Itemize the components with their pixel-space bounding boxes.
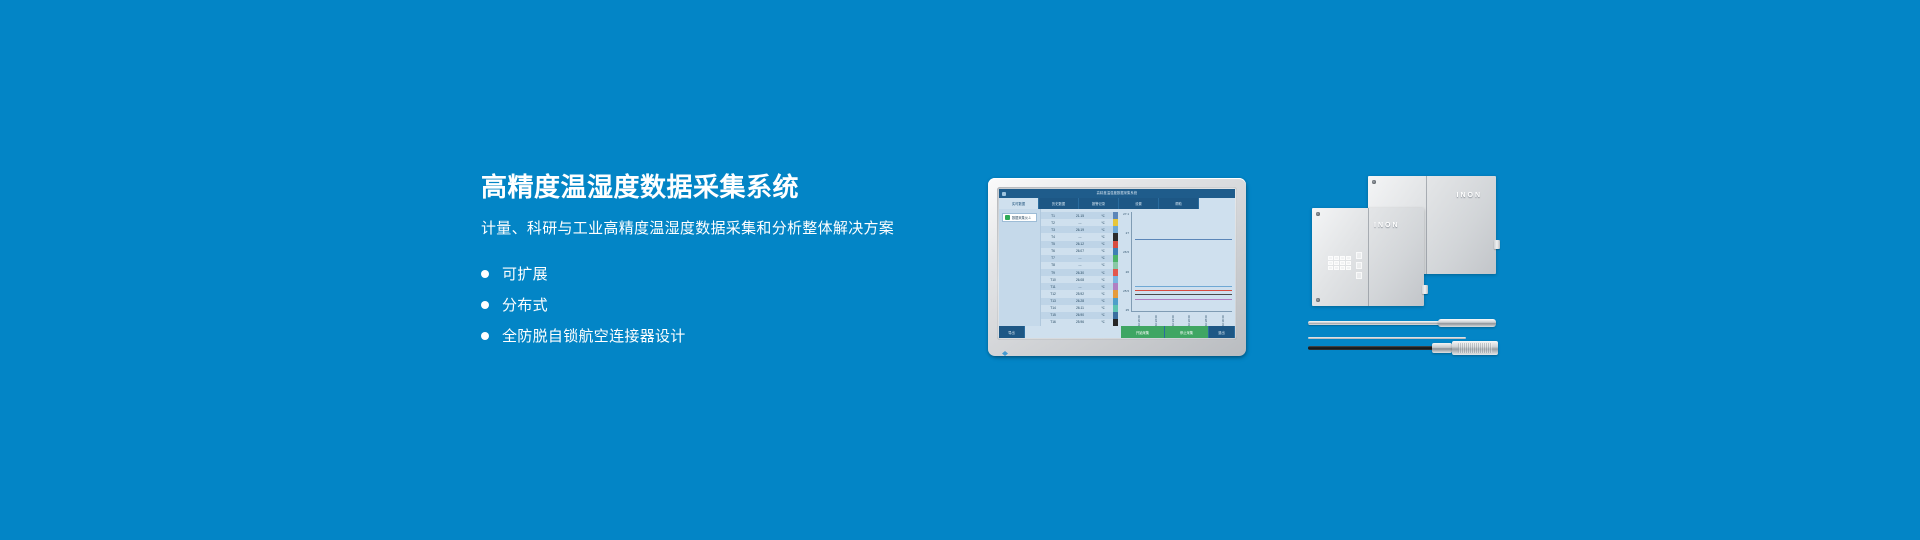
list-item: 可扩展 bbox=[481, 258, 951, 289]
table-cell: 21.15 bbox=[1064, 214, 1096, 218]
table-cell: T13 bbox=[1042, 299, 1064, 303]
monitor-bezel: 高精度温湿度数据采集系统 实时数据 历史数据 报警记录 设置 帮助 bbox=[988, 178, 1246, 356]
enclosure-connector bbox=[1422, 285, 1428, 294]
table-cell: ℃ bbox=[1096, 235, 1110, 239]
trend-chart: 27.12726.52625.525 10:20:0010:22:0010:24… bbox=[1118, 209, 1235, 326]
app-tab-bar[interactable]: 实时数据 历史数据 报警记录 设置 帮助 bbox=[999, 198, 1235, 209]
sidebar-item-label: 数据采集仪-1 bbox=[1012, 215, 1031, 220]
table-cell: ℃ bbox=[1096, 313, 1110, 317]
screw-icon bbox=[1316, 298, 1320, 302]
chart-series-line bbox=[1135, 294, 1232, 295]
table-cell: T15 bbox=[1042, 313, 1064, 317]
steel-probe-rod bbox=[1308, 321, 1446, 325]
list-item: 分布式 bbox=[481, 289, 951, 320]
table-cell: --- bbox=[1064, 235, 1096, 239]
table-cell: 26.11 bbox=[1064, 306, 1096, 310]
chart-series-line bbox=[1135, 286, 1232, 287]
enclosure-front: INON bbox=[1312, 208, 1424, 306]
table-cell: T11 bbox=[1042, 285, 1064, 289]
chart-series-line bbox=[1135, 299, 1232, 300]
hero-banner: 高精度温湿度数据采集系统 计量、科研与工业高精度温湿度数据采集和分析整体解决方案… bbox=[0, 0, 1920, 540]
table-row[interactable]: T2---℃ bbox=[1041, 219, 1113, 226]
sidebar-item-device[interactable]: 数据采集仪-1 bbox=[1002, 213, 1037, 222]
table-cell: ℃ bbox=[1096, 320, 1110, 324]
channel-table[interactable]: T121.15℃T2---℃T326.19℃T4---℃T526.12℃T626… bbox=[1041, 209, 1113, 326]
table-cell: 25.96 bbox=[1064, 320, 1096, 324]
feature-label: 可扩展 bbox=[502, 263, 548, 284]
feature-label: 全防脱自锁航空连接器设计 bbox=[502, 325, 686, 346]
tab-realtime[interactable]: 实时数据 bbox=[999, 198, 1039, 209]
table-cell: T3 bbox=[1042, 228, 1064, 232]
table-row[interactable]: T1326.28℃ bbox=[1041, 298, 1113, 305]
table-cell: ℃ bbox=[1096, 214, 1110, 218]
table-cell: T14 bbox=[1042, 306, 1064, 310]
table-cell: 26.08 bbox=[1064, 278, 1096, 282]
table-cell: T5 bbox=[1042, 242, 1064, 246]
y-axis-tick-label: 26.5 bbox=[1123, 250, 1130, 254]
stop-capture-button[interactable]: 停止采集 bbox=[1165, 326, 1209, 338]
table-cell: T2 bbox=[1042, 221, 1064, 225]
chart-series-line bbox=[1135, 239, 1232, 240]
table-cell: 26.90 bbox=[1064, 313, 1096, 317]
table-cell: ℃ bbox=[1096, 285, 1110, 289]
table-row[interactable]: T926.30℃ bbox=[1041, 269, 1113, 276]
table-cell: --- bbox=[1064, 263, 1096, 267]
table-row[interactable]: T121.15℃ bbox=[1041, 212, 1113, 219]
monitor-inner-rim: 高精度温湿度数据采集系统 实时数据 历史数据 报警记录 设置 帮助 bbox=[997, 187, 1237, 340]
status-ok-icon bbox=[1005, 215, 1010, 220]
table-cell: T8 bbox=[1042, 263, 1064, 267]
table-cell: T1 bbox=[1042, 214, 1064, 218]
start-capture-button[interactable]: 开始采集 bbox=[1121, 326, 1165, 338]
table-cell: ℃ bbox=[1096, 263, 1110, 267]
table-cell: 25.92 bbox=[1064, 292, 1096, 296]
table-cell: ℃ bbox=[1096, 299, 1110, 303]
x-axis-tick-label: 10:26:00 bbox=[1188, 312, 1191, 326]
tab-alarms[interactable]: 报警记录 bbox=[1079, 198, 1119, 209]
enclosure-seam bbox=[1426, 176, 1427, 274]
table-row[interactable]: T1026.08℃ bbox=[1041, 276, 1113, 283]
table-row[interactable]: T11---℃ bbox=[1041, 283, 1113, 290]
table-row[interactable]: T526.12℃ bbox=[1041, 241, 1113, 248]
etched-ports-icon bbox=[1356, 252, 1362, 279]
table-cell: 26.12 bbox=[1064, 242, 1096, 246]
enclosure-connector bbox=[1494, 240, 1500, 249]
table-cell: ℃ bbox=[1096, 271, 1110, 275]
cable-strain-relief bbox=[1432, 343, 1452, 353]
chart-x-axis: 10:20:0010:22:0010:24:0010:26:0010:28:00… bbox=[1131, 312, 1232, 326]
table-row[interactable]: T8---℃ bbox=[1041, 262, 1113, 269]
table-cell: ℃ bbox=[1096, 278, 1110, 282]
table-cell: T16 bbox=[1042, 320, 1064, 324]
table-cell: 26.07 bbox=[1064, 249, 1096, 253]
screw-icon bbox=[1372, 180, 1376, 184]
table-row[interactable]: T7---℃ bbox=[1041, 255, 1113, 262]
y-axis-tick-label: 27.1 bbox=[1123, 212, 1130, 216]
table-cell: ℃ bbox=[1096, 256, 1110, 260]
tab-settings[interactable]: 设置 bbox=[1119, 198, 1159, 209]
table-row[interactable]: T4---℃ bbox=[1041, 233, 1113, 240]
table-cell: --- bbox=[1064, 256, 1096, 260]
table-cell: T12 bbox=[1042, 292, 1064, 296]
brand-label: INON bbox=[1374, 222, 1400, 229]
x-axis-tick-label: 10:28:00 bbox=[1205, 312, 1208, 326]
table-cell: ℃ bbox=[1096, 292, 1110, 296]
table-row[interactable]: T1526.90℃ bbox=[1041, 312, 1113, 319]
app-titlebar: 高精度温湿度数据采集系统 bbox=[999, 189, 1235, 198]
probe-group bbox=[1308, 315, 1498, 361]
hero-copy-block: 高精度温湿度数据采集系统 计量、科研与工业高精度温湿度数据采集和分析整体解决方案… bbox=[481, 170, 951, 351]
bullet-icon bbox=[481, 332, 489, 340]
exit-button[interactable]: 退出 bbox=[1209, 326, 1235, 338]
table-cell: ℃ bbox=[1096, 228, 1110, 232]
connector-knurl-texture bbox=[1458, 343, 1492, 353]
footer-spacer bbox=[1025, 326, 1121, 338]
y-axis-tick-label: 27 bbox=[1126, 231, 1130, 235]
table-cell: --- bbox=[1064, 285, 1096, 289]
table-cell: --- bbox=[1064, 221, 1096, 225]
y-axis-tick-label: 26 bbox=[1126, 270, 1130, 274]
steel-probe-tip bbox=[1438, 319, 1496, 327]
device-tree-sidebar[interactable]: 数据采集仪-1 bbox=[999, 209, 1041, 326]
table-cell: 26.30 bbox=[1064, 271, 1096, 275]
brand-label: INON bbox=[1457, 192, 1483, 199]
bullet-icon bbox=[481, 270, 489, 278]
table-row[interactable]: T1225.92℃ bbox=[1041, 290, 1113, 297]
table-cell: ℃ bbox=[1096, 221, 1110, 225]
screw-icon bbox=[1316, 212, 1320, 216]
app-footer-toolbar[interactable]: 导出 开始采集 停止采集 退出 bbox=[999, 326, 1235, 338]
table-row[interactable]: T326.19℃ bbox=[1041, 226, 1113, 233]
table-cell: T4 bbox=[1042, 235, 1064, 239]
chart-series-line bbox=[1135, 290, 1232, 291]
x-axis-tick-label: 10:30:00 bbox=[1222, 312, 1225, 326]
feature-list: 可扩展 分布式 全防脱自锁航空连接器设计 bbox=[481, 258, 951, 351]
table-cell: ℃ bbox=[1096, 306, 1110, 310]
tab-help[interactable]: 帮助 bbox=[1159, 198, 1199, 209]
enclosure-seam bbox=[1368, 208, 1369, 306]
feature-label: 分布式 bbox=[502, 294, 548, 315]
app-title: 高精度温湿度数据采集系统 bbox=[999, 189, 1235, 198]
table-cell: T9 bbox=[1042, 271, 1064, 275]
page-subtitle: 计量、科研与工业高精度温湿度数据采集和分析整体解决方案 bbox=[481, 218, 951, 240]
table-cell: ℃ bbox=[1096, 249, 1110, 253]
page-title: 高精度温湿度数据采集系统 bbox=[481, 170, 951, 204]
bullet-icon bbox=[481, 301, 489, 309]
table-cell: 26.28 bbox=[1064, 299, 1096, 303]
table-cell: T7 bbox=[1042, 256, 1064, 260]
table-row[interactable]: T1426.11℃ bbox=[1041, 305, 1113, 312]
thin-probe-rod bbox=[1308, 337, 1466, 339]
y-axis-tick-label: 25.5 bbox=[1123, 289, 1130, 293]
chart-plot-area bbox=[1131, 212, 1232, 312]
table-cell: T6 bbox=[1042, 249, 1064, 253]
x-axis-tick-label: 10:20:00 bbox=[1138, 312, 1141, 326]
y-axis-tick-label: 25 bbox=[1126, 308, 1130, 312]
etched-grid-icon bbox=[1328, 256, 1351, 270]
export-button[interactable]: 导出 bbox=[999, 326, 1025, 338]
chart-y-axis: 27.12726.52625.525 bbox=[1118, 212, 1130, 312]
x-axis-tick-label: 10:22:00 bbox=[1155, 312, 1158, 326]
probe-cable bbox=[1308, 346, 1436, 350]
table-cell: ℃ bbox=[1096, 242, 1110, 246]
list-item: 全防脱自锁航空连接器设计 bbox=[481, 320, 951, 351]
app-body: 数据采集仪-1 T121.15℃T2---℃T326.19℃T4---℃T526… bbox=[999, 209, 1235, 326]
tab-bar-filler bbox=[1199, 198, 1235, 209]
table-cell: 26.19 bbox=[1064, 228, 1096, 232]
table-row[interactable]: T626.07℃ bbox=[1041, 248, 1113, 255]
table-row[interactable]: T1625.96℃ bbox=[1041, 319, 1113, 326]
x-axis-tick-label: 10:24:00 bbox=[1172, 312, 1175, 326]
tab-history[interactable]: 历史数据 bbox=[1039, 198, 1079, 209]
monitor-screen: 高精度温湿度数据采集系统 实时数据 历史数据 报警记录 设置 帮助 bbox=[999, 189, 1235, 338]
table-cell: T10 bbox=[1042, 278, 1064, 282]
panel-pc-monitor: 高精度温湿度数据采集系统 实时数据 历史数据 报警记录 设置 帮助 bbox=[988, 178, 1250, 360]
